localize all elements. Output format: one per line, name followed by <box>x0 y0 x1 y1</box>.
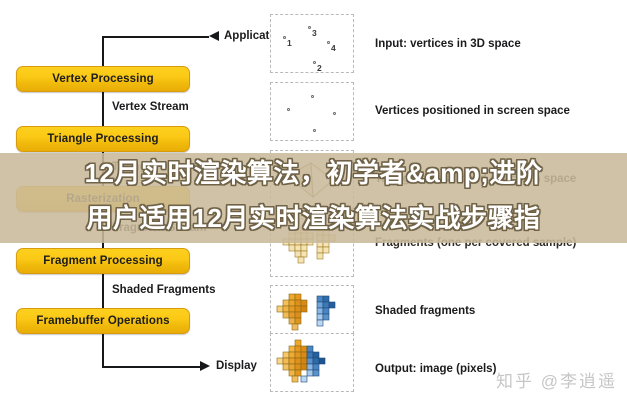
vertex-label-3: 3 <box>312 28 317 38</box>
connector-application-horizontal <box>103 36 209 38</box>
stage-box-vertex-processing[interactable]: Vertex Processing <box>16 66 190 92</box>
caption-shaded-fragments: Shaded fragments <box>375 305 475 317</box>
vertex-dot-screen-1 <box>287 108 290 111</box>
arrowhead-display <box>200 361 210 371</box>
caption-input-vertices-3d: Input: vertices in 3D space <box>375 38 521 50</box>
vertex-dot-screen-3 <box>311 95 314 98</box>
connector-shaded-fragments <box>102 274 104 308</box>
stage-label-triangle-processing: Triangle Processing <box>47 133 158 145</box>
vertex-dot-1 <box>283 36 286 39</box>
screenshot-root: Application Vertex Processing Vertex Str… <box>0 0 627 400</box>
vertex-dot-screen-4 <box>333 112 336 115</box>
stage-box-fragment-processing[interactable]: Fragment Processing <box>16 248 190 274</box>
stage-label-fragment-processing: Fragment Processing <box>43 255 163 267</box>
stage-box-triangle-processing[interactable]: Triangle Processing <box>16 126 190 152</box>
stage-label-framebuffer-operations: Framebuffer Operations <box>36 315 169 327</box>
vertex-label-2: 2 <box>317 63 322 73</box>
illustration-box-output-image <box>270 333 354 392</box>
connector-vertex-stream <box>102 92 104 126</box>
vertex-dot-2 <box>313 61 316 64</box>
vertex-label-1: 1 <box>287 38 292 48</box>
arrowhead-application <box>209 31 219 41</box>
watermark-zhihu: 知乎 @李逍遥 <box>496 367 617 392</box>
connector-display-vertical <box>102 334 104 368</box>
overlay-title-line-1: 12月实时渲染算法，初学者&amp;进阶 <box>0 160 627 186</box>
illustration-box-vertices-screen <box>270 82 354 141</box>
vertex-label-4: 4 <box>331 43 336 53</box>
edge-label-display: Display <box>216 360 257 372</box>
stage-label-vertex-processing: Vertex Processing <box>52 73 153 85</box>
connector-display-horizontal <box>102 366 201 368</box>
edge-label-shaded-fragments: Shaded Fragments <box>112 284 216 296</box>
vertex-dot-screen-2 <box>313 129 316 132</box>
caption-vertices-screen-space: Vertices positioned in screen space <box>375 105 570 117</box>
output-image-svg <box>271 334 355 393</box>
connector-application-vertical <box>102 36 104 68</box>
caption-output-image-pixels: Output: image (pixels) <box>375 363 496 375</box>
vertex-dot-3 <box>308 26 311 29</box>
edge-label-vertex-stream: Vertex Stream <box>112 101 189 113</box>
vertex-dot-4 <box>327 41 330 44</box>
illustration-box-vertices-3d: 1 2 3 4 <box>270 14 354 73</box>
stage-box-framebuffer-operations[interactable]: Framebuffer Operations <box>16 308 190 334</box>
overlay-title-line-2: 用户适用12月实时渲染算法实战步骤指 <box>0 205 627 231</box>
